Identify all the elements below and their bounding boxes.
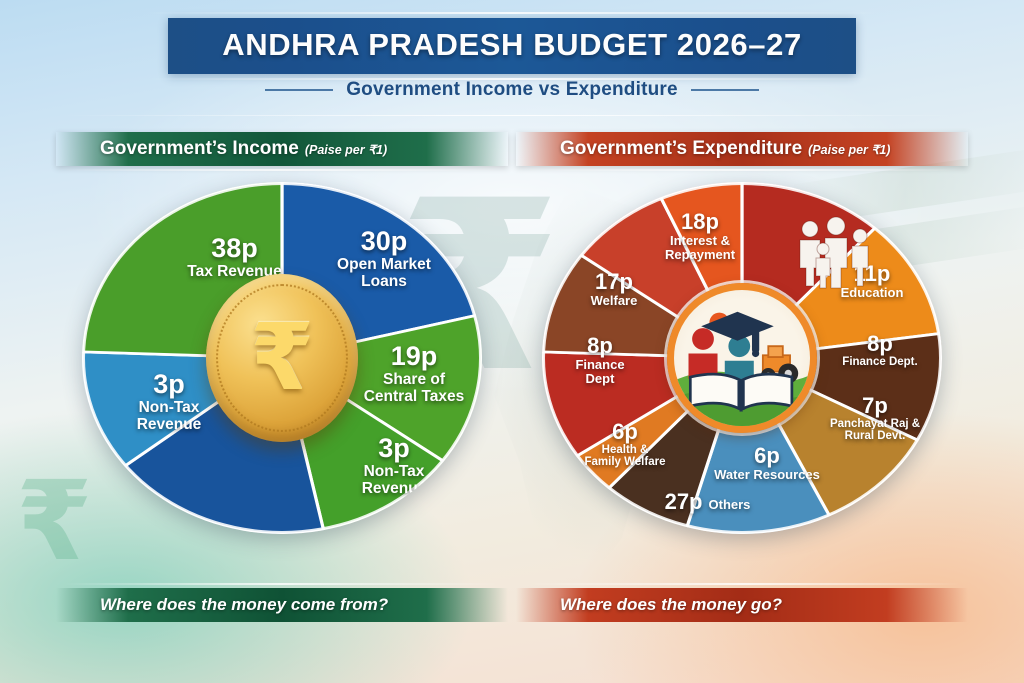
expenditure-banner-unit: (Paise per ₹1) — [808, 142, 890, 157]
subtitle-row: Government Income vs Expenditure — [0, 79, 1024, 101]
expenditure-pie-chart[interactable]: 18pInterest &Repayment11pEducation8pFina… — [542, 182, 942, 534]
emblem-artwork-icon — [674, 290, 810, 426]
income-footer-banner: Where does the money come from? — [56, 588, 508, 622]
income-banner: Government’s Income (Paise per ₹1) — [56, 132, 508, 166]
expenditure-banner-title: Government’s Expenditure — [560, 138, 802, 160]
expenditure-center-emblem — [667, 283, 817, 433]
income-footer-text: Where does the money come from? — [100, 595, 388, 615]
header-divider — [62, 115, 962, 116]
income-panel: Government’s Income (Paise per ₹1) 38pTa… — [56, 132, 508, 622]
expenditure-footer-text: Where does the money go? — [560, 595, 782, 615]
title-banner: ANDHRA PRADESH BUDGET 2026–27 — [168, 18, 856, 74]
rupee-coin-icon: ₹ — [206, 274, 358, 442]
income-banner-title: Government’s Income — [100, 138, 299, 160]
expenditure-panel: Government’s Expenditure (Paise per ₹1) … — [516, 132, 968, 622]
page-header: ANDHRA PRADESH BUDGET 2026–27 — [0, 18, 1024, 74]
rule-right-icon — [691, 89, 759, 91]
rupee-glyph-icon: ₹ — [250, 312, 314, 404]
rule-left-icon — [265, 89, 333, 91]
page-title: ANDHRA PRADESH BUDGET 2026–27 — [222, 27, 802, 62]
expenditure-banner: Government’s Expenditure (Paise per ₹1) — [516, 132, 968, 166]
expenditure-footer-banner: Where does the money go? — [516, 588, 968, 622]
income-banner-unit: (Paise per ₹1) — [305, 142, 387, 157]
income-pie-chart[interactable]: 38pTax Revenue30pOpen MarketLoans19pShar… — [82, 182, 482, 534]
page-subtitle: Government Income vs Expenditure — [346, 79, 678, 101]
